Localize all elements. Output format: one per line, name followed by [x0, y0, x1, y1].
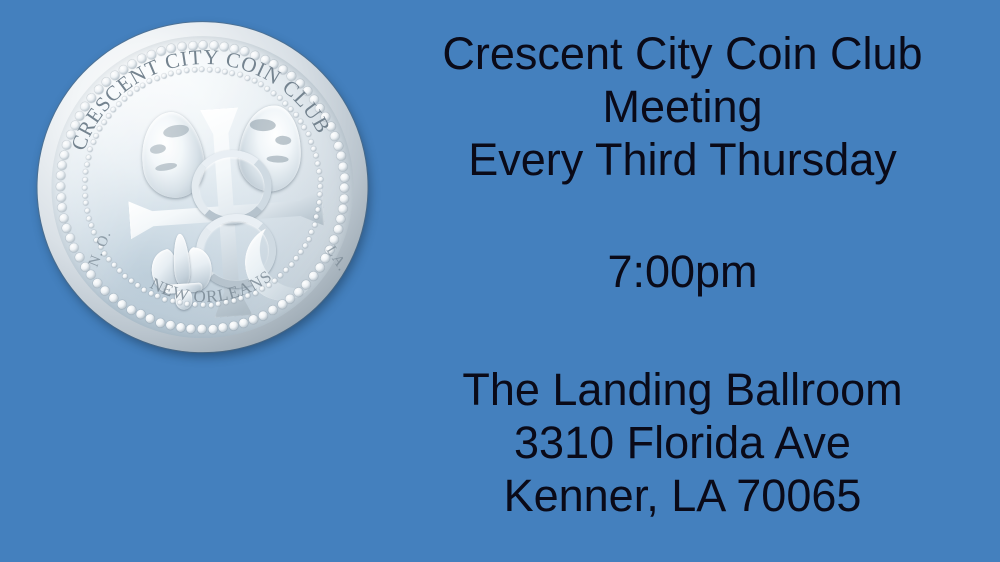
announcement-text-block: Crescent City Coin Club Meeting Every Th…	[390, 0, 975, 562]
heading-line-1: Crescent City Coin Club	[390, 27, 975, 80]
heading-group: Crescent City Coin Club Meeting Every Th…	[390, 27, 975, 186]
venue-street: 3310 Florida Ave	[390, 416, 975, 469]
heading-line-2: Meeting	[390, 80, 975, 133]
venue-name: The Landing Ballroom	[390, 363, 975, 416]
coin-image: CRESCENT CITY COIN CLUB NEW ORLEANS N. O…	[30, 8, 380, 380]
venue-city-state-zip: Kenner, LA 70065	[390, 469, 975, 522]
venue-group: The Landing Ballroom 3310 Florida Ave Ke…	[390, 363, 975, 522]
meeting-time-group: 7:00pm	[390, 245, 975, 298]
heading-line-3: Every Third Thursday	[390, 133, 975, 186]
coin-tilt-wrapper: CRESCENT CITY COIN CLUB NEW ORLEANS N. O…	[17, 0, 392, 392]
coin-inner-bead-ring	[73, 58, 331, 316]
meeting-time: 7:00pm	[390, 245, 975, 298]
coin-club-meeting-poster: CRESCENT CITY COIN CLUB NEW ORLEANS N. O…	[0, 0, 1000, 562]
